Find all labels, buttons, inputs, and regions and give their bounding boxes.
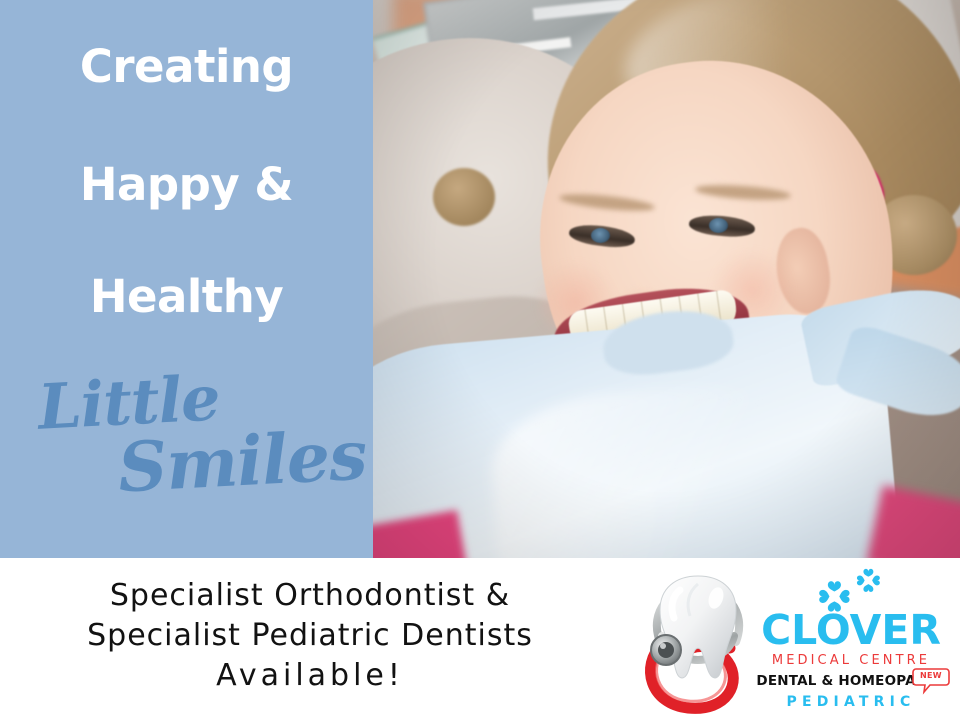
headline-line-3: Healthy	[0, 274, 373, 319]
headline-line-1: Creating	[0, 44, 373, 89]
child-patient-photo	[373, 0, 960, 558]
tagline-line-1: Specialist Orthodontist &	[10, 576, 610, 616]
photo-vignette	[373, 0, 960, 558]
logo-name: CLOVER	[748, 610, 954, 651]
little-smiles-wordmark: Little Smiles	[0, 366, 373, 516]
headline-line-2: Happy &	[0, 162, 373, 207]
headline-panel: Creating Happy & Healthy Little Smiles	[0, 0, 373, 558]
footer-tagline: Specialist Orthodontist & Specialist Ped…	[10, 576, 610, 696]
logo-subtitle-pediatric: PEDIATRIC	[748, 695, 954, 709]
new-badge-label: NEW	[912, 672, 950, 680]
advertisement-poster: Creating Happy & Healthy Little Smiles	[0, 0, 960, 720]
new-badge: NEW	[912, 667, 954, 697]
tagline-line-3: Available!	[10, 656, 610, 696]
clover-medical-centre-logo: CLOVER MEDICAL CENTRE DENTAL & HOMEOPATH…	[748, 566, 954, 714]
tooth-with-stethoscope-icon	[632, 570, 764, 716]
brand-word-smiles: Smiles	[116, 422, 367, 503]
poster-top-area: Creating Happy & Healthy Little Smiles	[0, 0, 960, 558]
tagline-line-2: Specialist Pediatric Dentists	[10, 616, 610, 656]
logo-subtitle-medical-centre: MEDICAL CENTRE	[748, 654, 954, 667]
